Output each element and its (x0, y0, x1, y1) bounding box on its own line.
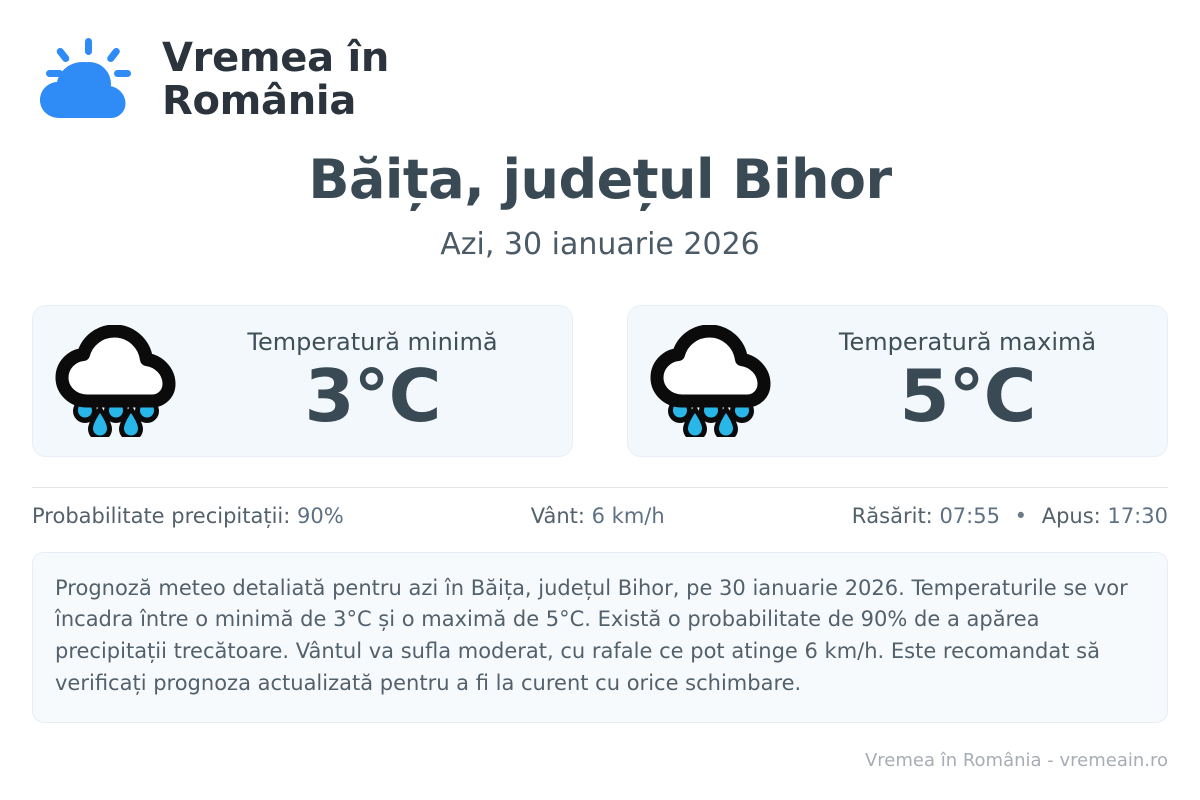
min-temperature-label: Temperatură minimă (247, 328, 497, 357)
sun-behind-cloud-icon (32, 32, 144, 128)
brand-name: Vremea în România (162, 37, 389, 123)
precipitation-stat: Probabilitate precipitații: 90% (32, 504, 344, 529)
max-temperature-label: Temperatură maximă (839, 328, 1096, 357)
max-temperature-card: Temperatură maximă 5°C (627, 305, 1168, 457)
forecast-description: Prognoză meteo detaliată pentru azi în B… (32, 552, 1168, 724)
min-temperature-value: 3°C (305, 359, 441, 435)
min-temperature-body: Temperatură minimă 3°C (191, 328, 554, 434)
section-divider (32, 487, 1168, 488)
wind-label: Vânt: (531, 504, 585, 528)
sunrise-label: Răsărit: (852, 504, 933, 528)
date-subtitle: Azi, 30 ianuarie 2026 (32, 227, 1168, 263)
sunset-value: 17:30 (1107, 504, 1168, 528)
site-brand[interactable]: Vremea în România (32, 0, 1168, 112)
rain-cloud-icon (55, 325, 177, 437)
max-temperature-value: 5°C (900, 359, 1036, 435)
min-temperature-card: Temperatură minimă 3°C (32, 305, 573, 457)
sun-times-stat: Răsărit: 07:55 • Apus: 17:30 (852, 504, 1168, 529)
footer-credit: Vremea în România - vremeain.ro (865, 750, 1168, 772)
sunrise-value: 07:55 (939, 504, 1000, 528)
weather-page: Vremea în România Băița, județul Bihor A… (0, 0, 1200, 800)
wind-value: 6 km/h (592, 504, 665, 528)
weather-stats-row: Probabilitate precipitații: 90% Vânt: 6 … (32, 504, 1168, 529)
wind-stat: Vânt: 6 km/h (531, 504, 665, 529)
bullet-separator-icon: • (1007, 504, 1035, 529)
temperature-cards: Temperatură minimă 3°C (32, 305, 1168, 457)
precipitation-label: Probabilitate precipitații: (32, 504, 290, 528)
page-title: Băița, județul Bihor (32, 150, 1168, 209)
sunset-label: Apus: (1042, 504, 1101, 528)
precipitation-value: 90% (297, 504, 344, 528)
max-temperature-body: Temperatură maximă 5°C (786, 328, 1149, 434)
rain-cloud-icon (650, 325, 772, 437)
